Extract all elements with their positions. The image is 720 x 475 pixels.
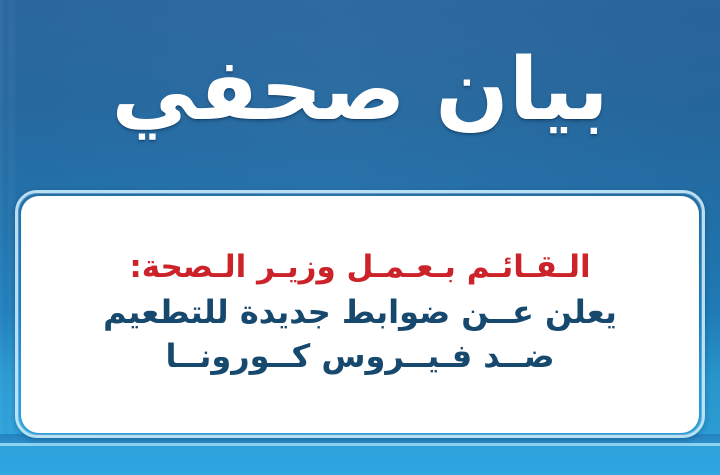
bottom-band-base <box>0 446 720 475</box>
press-statement-poster: بيان صحفي الـقـائـم بـعـمـل وزيـر الـصحة… <box>0 0 720 475</box>
statement-line-1: يعلن عــن ضوابط جديدة للتطعيم <box>103 295 617 331</box>
statement-card: الـقـائـم بـعـمـل وزيـر الـصحة: يعلن عــ… <box>21 196 699 433</box>
statement-eyebrow: الـقـائـم بـعـمـل وزيـر الـصحة: <box>129 250 590 285</box>
statement-line-2: ضــد فـيــروس كــورونــا <box>165 339 554 375</box>
poster-header: بيان صحفي <box>0 0 720 190</box>
page-title: بيان صحفي <box>111 44 608 147</box>
